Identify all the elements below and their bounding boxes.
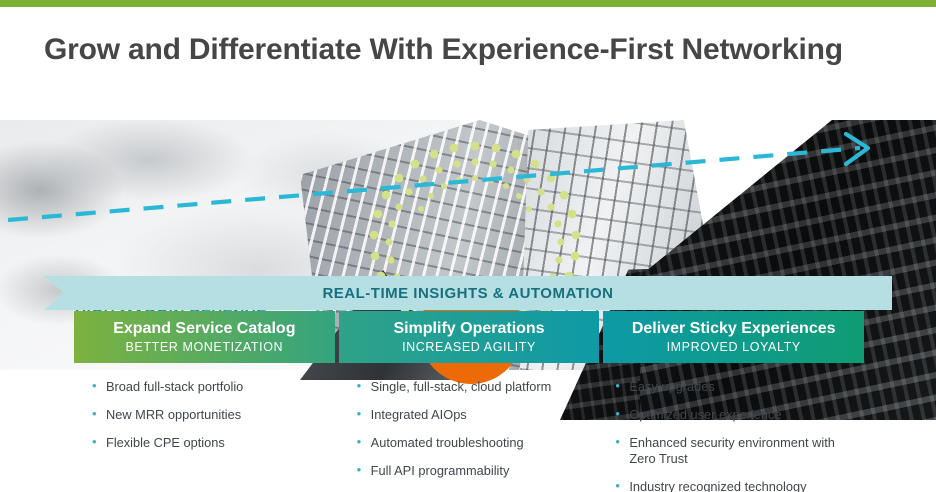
column-simplify-operations: Simplify Operations INCREASED AGILITY Si… <box>339 311 600 492</box>
benefit-columns: Expand Service Catalog BETTER MONETIZATI… <box>74 311 864 492</box>
column-header-1: Expand Service Catalog BETTER MONETIZATI… <box>74 311 335 363</box>
column-deliver-sticky-experiences: Deliver Sticky Experiences IMPROVED LOYA… <box>603 311 864 492</box>
column-expand-service-catalog: Expand Service Catalog BETTER MONETIZATI… <box>74 311 335 492</box>
column-bullets-1: Broad full-stack portfolio New MRR oppor… <box>74 379 335 451</box>
column-subtitle-3: IMPROVED LOYALTY <box>667 340 801 354</box>
list-item: Optimized user experience <box>615 407 864 423</box>
list-item: Enhanced security environment with Zero … <box>615 435 864 467</box>
list-item: Automated troubleshooting <box>357 435 600 451</box>
list-item: Integrated AIOps <box>357 407 600 423</box>
column-subtitle-1: BETTER MONETIZATION <box>125 340 283 354</box>
insights-banner-label: REAL-TIME INSIGHTS & AUTOMATION <box>322 285 613 302</box>
list-item: New MRR opportunities <box>92 407 335 423</box>
page-title: Grow and Differentiate With Experience-F… <box>44 33 904 67</box>
column-title-3: Deliver Sticky Experiences <box>632 320 836 338</box>
slide-root: Grow and Differentiate With Experience-F… <box>0 0 936 492</box>
list-item: Full API programmability <box>357 463 600 479</box>
list-item: Easy upgrades <box>615 379 864 395</box>
column-bullets-2: Single, full-stack, cloud platform Integ… <box>339 379 600 479</box>
list-item: Broad full-stack portfolio <box>92 379 335 395</box>
column-header-2: Simplify Operations INCREASED AGILITY <box>339 311 600 363</box>
column-title-1: Expand Service Catalog <box>113 320 295 338</box>
list-item: Industry recognized technology <box>615 479 864 492</box>
insights-banner: REAL-TIME INSIGHTS & AUTOMATION <box>44 276 892 310</box>
column-header-3: Deliver Sticky Experiences IMPROVED LOYA… <box>603 311 864 363</box>
column-title-2: Simplify Operations <box>393 320 544 338</box>
list-item: Single, full-stack, cloud platform <box>357 379 600 395</box>
column-bullets-3: Easy upgrades Optimized user experience … <box>603 379 864 492</box>
column-subtitle-2: INCREASED AGILITY <box>402 340 536 354</box>
list-item: Flexible CPE options <box>92 435 335 451</box>
top-accent-bar <box>0 0 936 7</box>
